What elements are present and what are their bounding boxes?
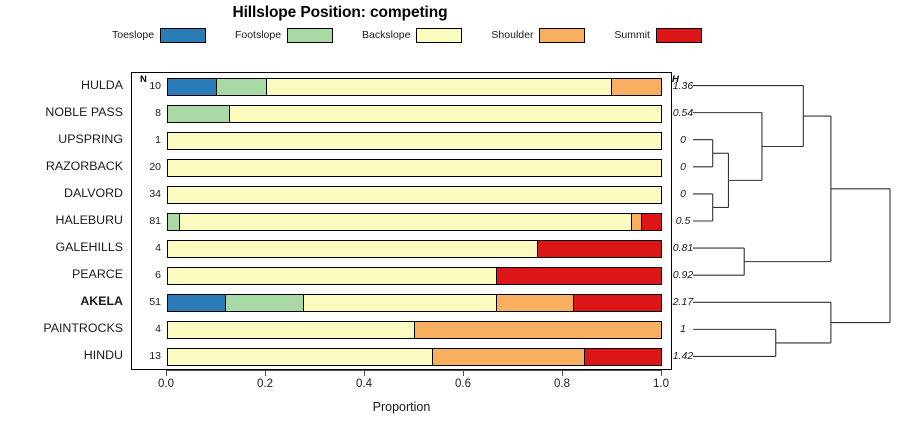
x-axis-tick	[562, 370, 563, 376]
x-axis-tick-label: 1.0	[641, 378, 681, 390]
bar-row	[132, 263, 671, 290]
bar-segment-backslope	[168, 133, 661, 149]
bar-row	[132, 73, 671, 100]
plot-panel	[131, 72, 672, 370]
bar-segment-summit	[585, 349, 661, 365]
x-axis-tick	[661, 370, 662, 376]
stacked-bar-hindu[interactable]	[167, 348, 662, 366]
legend-label: Footslope	[235, 29, 281, 41]
bar-segment-footslope	[168, 214, 180, 230]
bar-segment-shoulder	[415, 322, 662, 338]
x-axis-tick	[364, 370, 365, 376]
y-axis-label-galehills: GALEHILLS	[0, 240, 123, 254]
n-value: 34	[135, 188, 161, 200]
bar-rows	[132, 73, 671, 369]
y-axis-label-upspring: UPSPRING	[0, 132, 123, 146]
bar-segment-shoulder	[632, 214, 642, 230]
bar-segment-backslope	[168, 268, 497, 284]
legend-label: Backslope	[362, 29, 410, 41]
legend-swatch-backslope	[416, 28, 462, 43]
x-axis-tick	[265, 370, 266, 376]
legend-entry-shoulder[interactable]: Shoulder	[491, 28, 585, 43]
legend-swatch-footslope	[287, 28, 333, 43]
bar-segment-summit	[574, 295, 661, 311]
bar-segment-backslope	[230, 106, 661, 122]
x-axis-title: Proportion	[131, 400, 672, 414]
bar-segment-summit	[642, 214, 661, 230]
bar-segment-backslope	[168, 187, 661, 203]
stacked-bar-hulda[interactable]	[167, 78, 662, 96]
bar-row	[132, 208, 671, 235]
bar-segment-footslope	[168, 106, 230, 122]
legend-entry-summit[interactable]: Summit	[614, 28, 702, 43]
y-axis-label-haleburu: HALEBURU	[0, 213, 123, 227]
stacked-bar-galehills[interactable]	[167, 240, 662, 258]
n-value: 81	[135, 215, 161, 227]
x-axis-tick-label: 0.8	[542, 378, 582, 390]
bar-segment-summit	[538, 241, 661, 257]
x-axis-tick-label: 0.0	[146, 378, 186, 390]
bar-segment-backslope	[180, 214, 632, 230]
x-axis-tick	[166, 370, 167, 376]
bar-segment-footslope	[226, 295, 303, 311]
bar-segment-backslope	[168, 322, 415, 338]
h-column-header: H	[672, 74, 679, 85]
bar-segment-backslope	[267, 79, 612, 95]
n-value: 8	[135, 107, 161, 119]
bar-segment-shoulder	[433, 349, 585, 365]
bar-row	[132, 181, 671, 208]
legend-entry-toeslope[interactable]: Toeslope	[112, 28, 206, 43]
x-axis: 0.00.20.40.60.81.0	[131, 370, 672, 396]
n-value: 13	[135, 350, 161, 362]
y-axis-label-akela: AKELA	[0, 294, 123, 308]
stacked-bar-razorback[interactable]	[167, 159, 662, 177]
x-axis-tick-label: 0.6	[443, 378, 483, 390]
bar-segment-shoulder	[612, 79, 661, 95]
y-axis-label-noble-pass: NOBLE PASS	[0, 105, 123, 119]
legend: ToeslopeFootslopeBackslopeShoulderSummit	[112, 26, 702, 44]
x-axis-tick-label: 0.4	[344, 378, 384, 390]
bar-row	[132, 127, 671, 154]
stacked-bar-haleburu[interactable]	[167, 213, 662, 231]
x-axis-line	[166, 370, 661, 371]
bar-row	[132, 236, 671, 263]
y-axis-label-dalvord: DALVORD	[0, 186, 123, 200]
n-value: 4	[135, 323, 161, 335]
bar-segment-backslope	[168, 160, 661, 176]
dendrogram-svg	[690, 72, 895, 370]
bar-segment-toeslope	[168, 295, 226, 311]
bar-segment-backslope	[304, 295, 497, 311]
y-axis-label-hindu: HINDU	[0, 348, 123, 362]
bar-row	[132, 344, 671, 371]
dendrogram	[690, 72, 895, 370]
n-value: 6	[135, 269, 161, 281]
n-value: 51	[135, 296, 161, 308]
legend-swatch-shoulder	[539, 28, 585, 43]
y-axis-label-pearce: PEARCE	[0, 267, 123, 281]
stacked-bar-upspring[interactable]	[167, 132, 662, 150]
bar-row	[132, 100, 671, 127]
legend-label: Shoulder	[491, 29, 533, 41]
legend-swatch-summit	[656, 28, 702, 43]
n-value: 20	[135, 161, 161, 173]
bar-segment-backslope	[168, 349, 433, 365]
legend-swatch-toeslope	[160, 28, 206, 43]
bar-segment-backslope	[168, 241, 538, 257]
bar-row	[132, 290, 671, 317]
bar-segment-footslope	[217, 79, 266, 95]
legend-label: Summit	[614, 29, 650, 41]
y-axis-label-paintrocks: PAINTROCKS	[0, 321, 123, 335]
legend-entry-footslope[interactable]: Footslope	[235, 28, 333, 43]
n-value: 4	[135, 242, 161, 254]
bar-row	[132, 154, 671, 181]
n-value: 1	[135, 134, 161, 146]
y-axis-label-hulda: HULDA	[0, 78, 123, 92]
bar-segment-summit	[497, 268, 661, 284]
legend-label: Toeslope	[112, 29, 154, 41]
bar-segment-toeslope	[168, 79, 217, 95]
stacked-bar-pearce[interactable]	[167, 267, 662, 285]
y-axis-label-razorback: RAZORBACK	[0, 159, 123, 173]
bar-row	[132, 317, 671, 344]
x-axis-tick	[463, 370, 464, 376]
n-column-header: N	[140, 74, 147, 85]
stacked-bar-dalvord[interactable]	[167, 186, 662, 204]
bar-segment-shoulder	[497, 295, 574, 311]
stacked-bar-akela[interactable]	[167, 294, 662, 312]
n-value: 10	[135, 80, 161, 92]
stacked-bar-noble-pass[interactable]	[167, 105, 662, 123]
stacked-bar-paintrocks[interactable]	[167, 321, 662, 339]
legend-entry-backslope[interactable]: Backslope	[362, 28, 462, 43]
x-axis-tick-label: 0.2	[245, 378, 285, 390]
page-title: Hillslope Position: competing	[0, 4, 680, 22]
